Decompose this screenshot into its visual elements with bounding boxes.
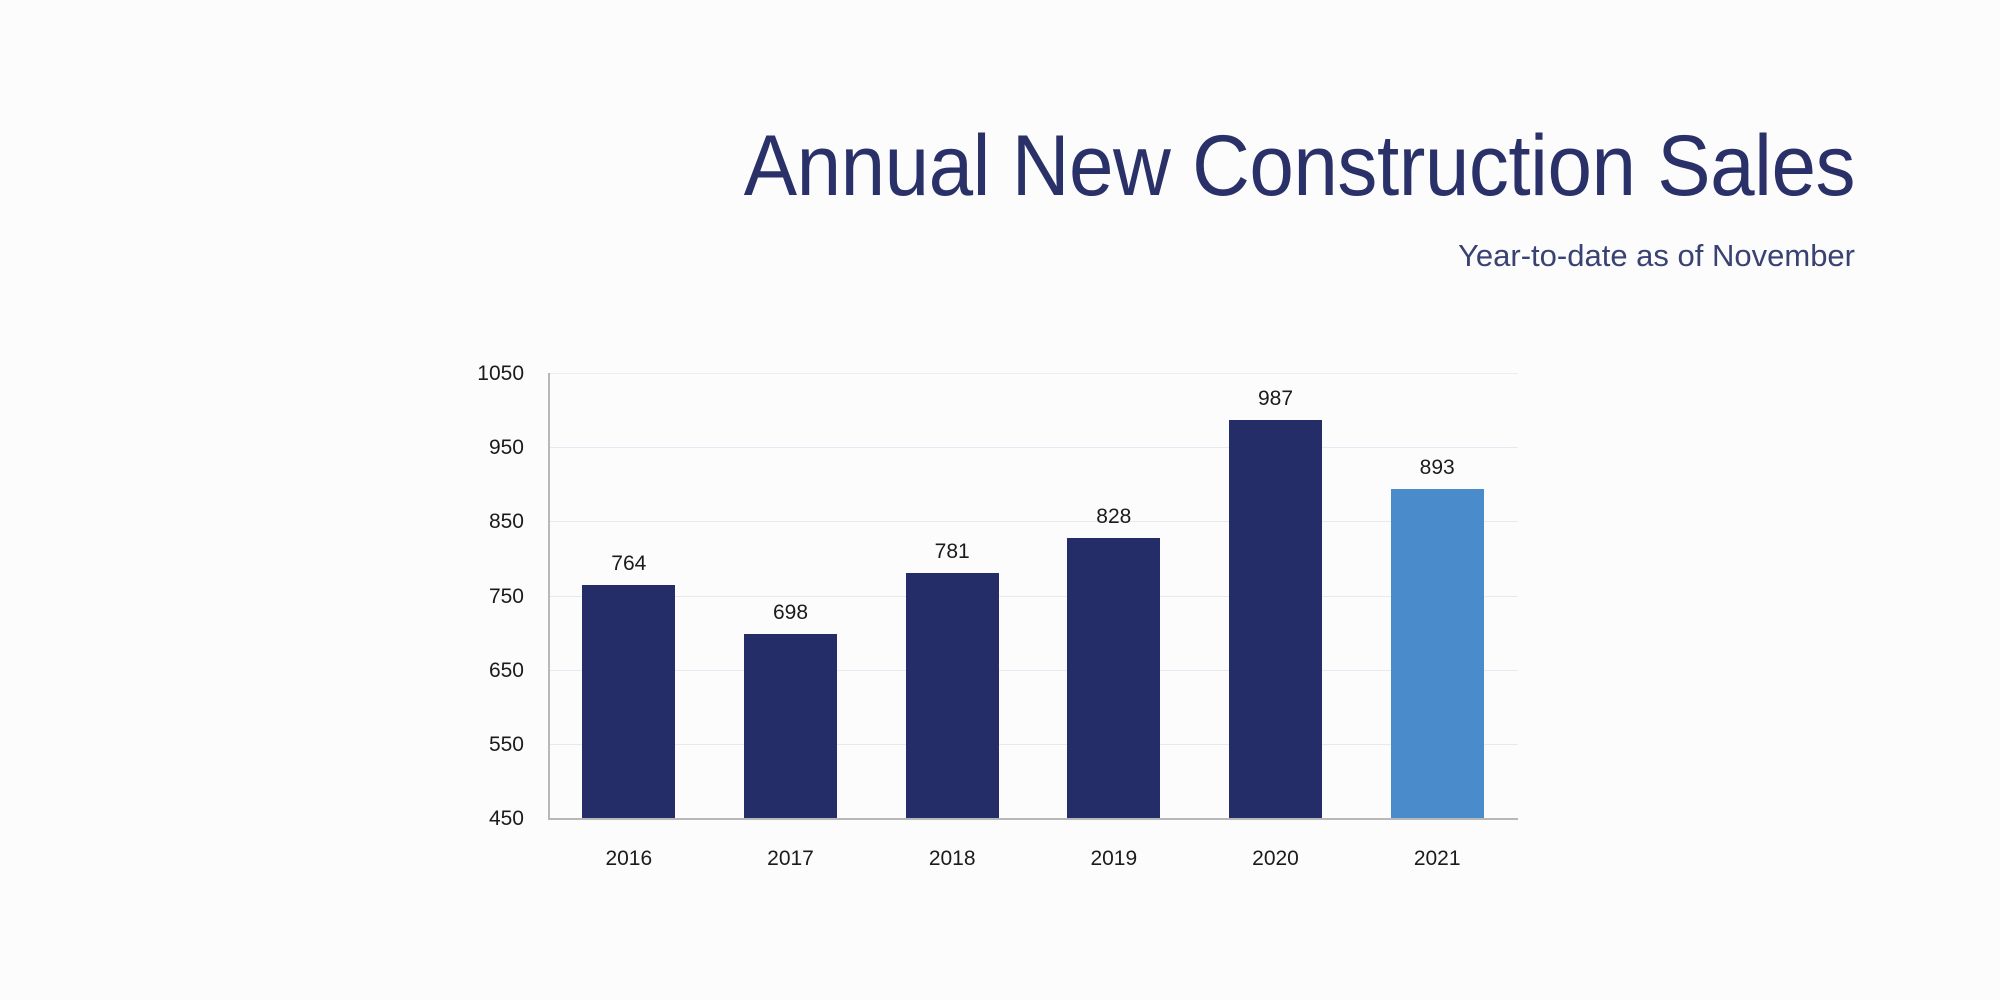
bar-group: 9872020 [1229,373,1322,818]
bar-value-label: 987 [1189,388,1362,410]
bar-value-label: 893 [1351,457,1524,479]
x-axis-tick-label: 2020 [1189,848,1362,870]
y-axis-tick-label: 550 [404,734,524,755]
bar-chart: 7642016698201778120188282019987202089320… [548,373,1518,818]
bar-value-label: 781 [866,541,1039,563]
bar-group: 8932021 [1391,373,1484,818]
bar-group: 7812018 [906,373,999,818]
bar-2021[interactable] [1391,489,1484,818]
bar-2016[interactable] [582,585,675,818]
gridline [548,744,1518,745]
bar-group: 6982017 [744,373,837,818]
x-axis-tick-label: 2021 [1351,848,1524,870]
y-axis-tick-label: 450 [404,808,524,829]
bar-value-label: 698 [704,602,877,624]
bar-2020[interactable] [1229,420,1322,818]
x-axis-tick-label: 2019 [1027,848,1200,870]
x-axis-line [548,818,1518,820]
y-axis-tick-label: 750 [404,586,524,607]
gridline [548,373,1518,374]
bar-value-label: 764 [542,553,715,575]
bar-2019[interactable] [1067,538,1160,818]
plot-area: 7642016698201778120188282019987202089320… [548,373,1518,818]
y-axis-tick-label: 1050 [404,363,524,384]
x-axis-tick-label: 2016 [542,848,715,870]
y-axis-tick-label: 850 [404,511,524,532]
y-axis-line [548,373,550,818]
x-axis-tick-label: 2018 [866,848,1039,870]
page-title: Annual New Construction Sales [130,118,1855,214]
bar-2017[interactable] [744,634,837,818]
gridline [548,596,1518,597]
chart-subtitle: Year-to-date as of November [0,238,1855,274]
bar-group: 7642016 [582,373,675,818]
bar-2018[interactable] [906,573,999,819]
bar-value-label: 828 [1027,506,1200,528]
y-axis-tick-label: 950 [404,437,524,458]
y-axis-tick-label: 650 [404,660,524,681]
gridline [548,670,1518,671]
bar-group: 8282019 [1067,373,1160,818]
gridline [548,447,1518,448]
x-axis-tick-label: 2017 [704,848,877,870]
